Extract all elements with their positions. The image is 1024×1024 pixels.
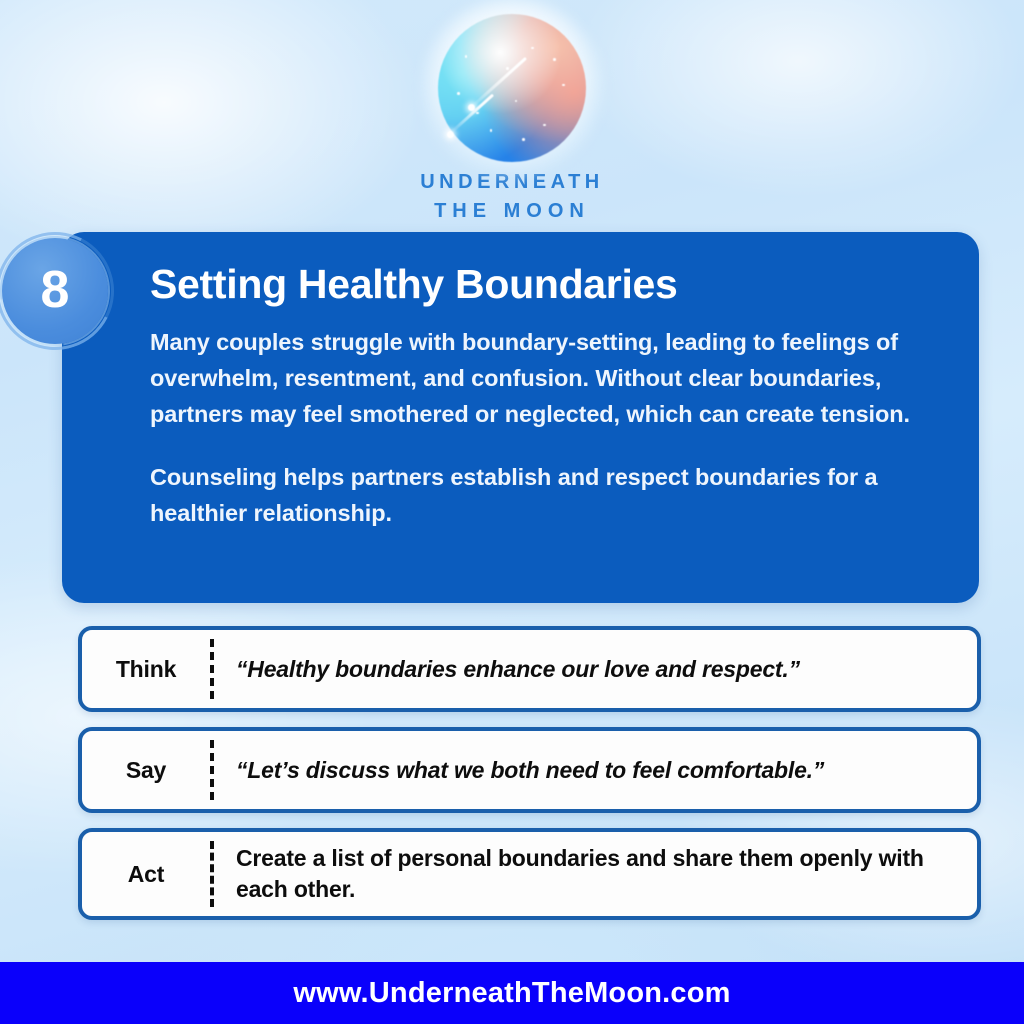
panel-paragraph-2: Counseling helps partners establish and … bbox=[150, 460, 941, 531]
list-item-say: Say “Let’s discuss what we both need to … bbox=[78, 727, 981, 813]
card-text-think: “Healthy boundaries enhance our love and… bbox=[214, 630, 977, 708]
brand-logo: UNDERNEATH THE MOON bbox=[0, 14, 1024, 226]
page-title: Setting Healthy Boundaries bbox=[150, 262, 941, 307]
content-panel: 8 Setting Healthy Boundaries Many couple… bbox=[62, 232, 979, 603]
card-text-act: Create a list of personal boundaries and… bbox=[214, 832, 977, 916]
footer-bar: www.UnderneathTheMoon.com bbox=[0, 962, 1024, 1024]
sphere-logo-icon bbox=[438, 14, 586, 162]
badge-number-text: 8 bbox=[41, 264, 70, 316]
comet-streak-icon bbox=[449, 94, 494, 135]
sphere-body bbox=[438, 14, 586, 162]
poster-canvas: UNDERNEATH THE MOON 8 Setting Healthy Bo… bbox=[0, 0, 1024, 1024]
think-say-act-list: Think “Healthy boundaries enhance our lo… bbox=[78, 626, 981, 920]
panel-paragraph-1: Many couples struggle with boundary-sett… bbox=[150, 325, 941, 432]
wordmark-line-2: THE MOON bbox=[420, 197, 604, 226]
panel-body: Many couples struggle with boundary-sett… bbox=[150, 325, 941, 532]
step-number-badge: 8 bbox=[2, 238, 108, 344]
comet-streak-icon bbox=[470, 57, 527, 109]
list-item-act: Act Create a list of personal boundaries… bbox=[78, 828, 981, 920]
badge-circle: 8 bbox=[2, 238, 108, 344]
website-url[interactable]: www.UnderneathTheMoon.com bbox=[293, 977, 730, 1010]
card-label-act: Act bbox=[82, 832, 210, 916]
card-label-think: Think bbox=[82, 630, 210, 708]
card-label-say: Say bbox=[82, 731, 210, 809]
list-item-think: Think “Healthy boundaries enhance our lo… bbox=[78, 626, 981, 712]
card-text-say: “Let’s discuss what we both need to feel… bbox=[214, 731, 977, 809]
